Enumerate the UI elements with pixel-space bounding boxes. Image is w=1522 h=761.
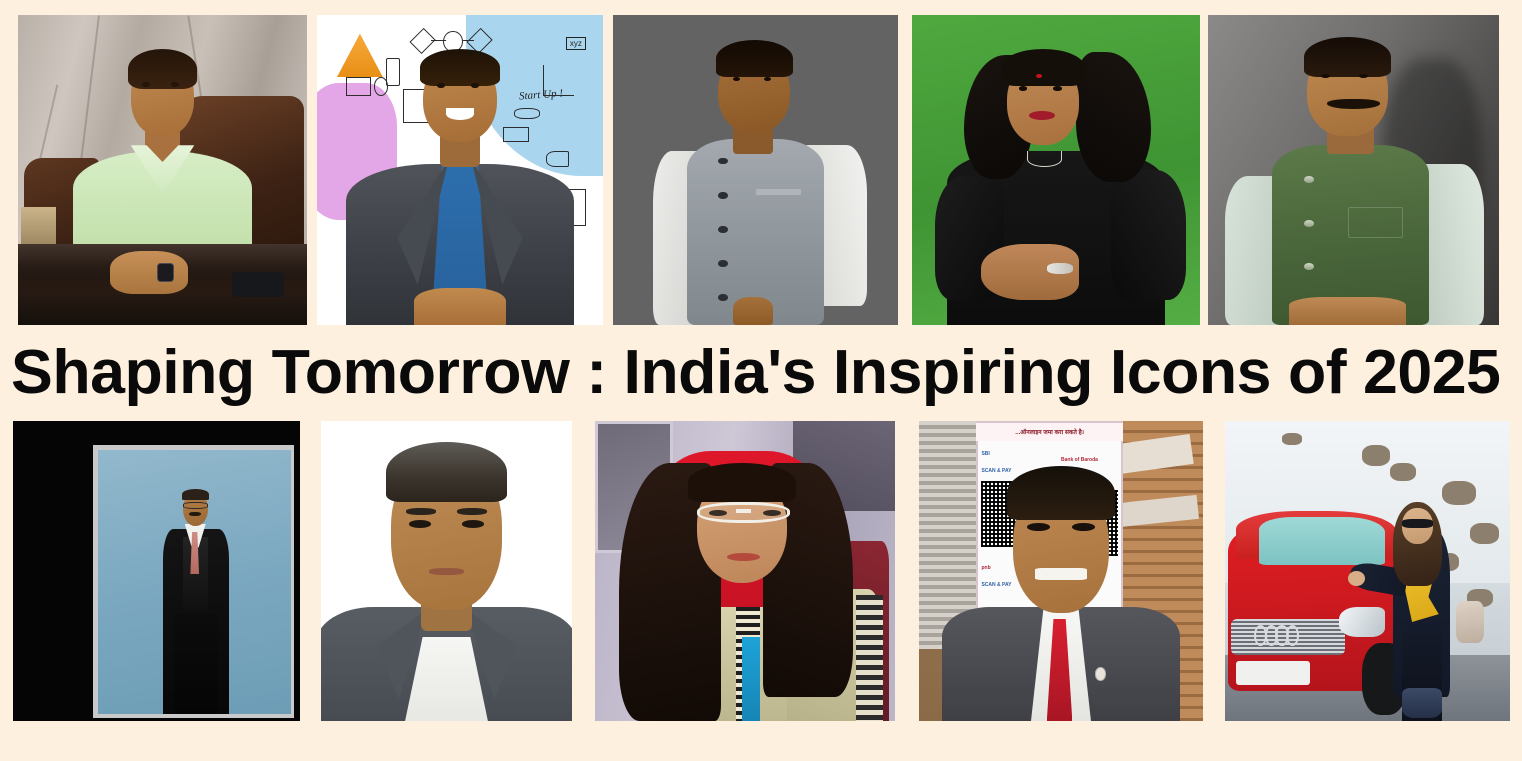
hair — [1304, 37, 1391, 77]
necklace — [1027, 151, 1062, 167]
doodle-xyz-icon: xyz — [566, 37, 586, 50]
waistcoat-pocket — [756, 189, 802, 195]
photo-tile-2[interactable]: xyz Start Up ! — [317, 15, 603, 325]
lips — [429, 568, 464, 575]
hair — [128, 49, 197, 89]
blue-scarf — [742, 637, 760, 721]
hair-top — [688, 463, 796, 502]
photo-5-image — [1208, 15, 1499, 325]
eye-right — [171, 82, 179, 87]
hair — [182, 489, 209, 500]
eyebrow-left — [406, 508, 436, 515]
rock — [1362, 445, 1391, 466]
photo-9-image: ...ऑनलाइन जमा करा सकते है। SBI SCAN & PA… — [919, 421, 1203, 721]
hands — [1289, 297, 1405, 325]
greying-hair — [386, 442, 506, 502]
photo-tile-9[interactable]: ...ऑनलाइन जमा करा सकते है। SBI SCAN & PA… — [919, 421, 1203, 721]
jacket-pocket — [1348, 207, 1403, 238]
waistcoat-button — [718, 294, 727, 301]
number-plate — [1236, 661, 1310, 685]
photo-tile-6[interactable] — [13, 421, 300, 721]
poster-title: Shaping Tomorrow : India's Inspiring Ico… — [0, 341, 1500, 404]
dupatta-border — [856, 595, 883, 721]
hair — [1007, 466, 1115, 520]
photo-2-image: xyz Start Up ! — [317, 15, 603, 325]
doodle-connector — [463, 40, 474, 41]
poster-canvas: xyz Start Up ! — [0, 0, 1522, 761]
wristwatch — [157, 263, 174, 282]
eye-left — [1027, 523, 1050, 531]
smile — [1035, 568, 1086, 580]
eye-left — [409, 520, 432, 528]
windshield — [1259, 517, 1384, 565]
scan-pay-label: SCAN & PAY — [981, 582, 1011, 588]
headline-band: Shaping Tomorrow : India's Inspiring Ico… — [0, 333, 1522, 411]
doodle-hand-icon — [546, 151, 569, 167]
photo-4-image — [912, 15, 1200, 325]
jacket-button — [1304, 263, 1314, 270]
lapel-pin — [1095, 667, 1106, 681]
hand-on-bonnet — [1348, 571, 1365, 586]
rock — [1390, 463, 1416, 481]
doodle-card-icon — [503, 127, 529, 143]
photo-tile-1[interactable] — [18, 15, 307, 325]
glasses-bridge — [736, 509, 751, 513]
eye-left — [1019, 86, 1028, 90]
photo-tile-8[interactable] — [595, 421, 895, 721]
rock — [1442, 481, 1476, 505]
eye-left — [142, 82, 150, 87]
bank-label-sbi: SBI — [981, 451, 989, 457]
eye-right — [1053, 86, 1062, 90]
eye-left — [437, 83, 444, 88]
photo-tile-10[interactable] — [1225, 421, 1510, 721]
photo-10-image — [1225, 421, 1510, 721]
photo-6-image — [13, 421, 300, 721]
photo-tile-7[interactable] — [321, 421, 572, 721]
eye-right — [1072, 523, 1095, 531]
rock — [1470, 523, 1499, 544]
eyebrow-right — [457, 508, 487, 515]
handbag — [1456, 601, 1485, 643]
doodle-chart-icon — [543, 65, 574, 96]
smartphone — [232, 272, 284, 297]
hair — [420, 49, 500, 86]
photo-tile-3[interactable] — [613, 15, 898, 325]
bank-label-bob: Bank of Baroda — [1061, 457, 1098, 463]
bracelet — [1047, 263, 1073, 274]
waistcoat-button — [718, 192, 727, 199]
eye-right — [471, 83, 478, 88]
lips — [727, 553, 760, 561]
framed-portrait — [98, 450, 291, 715]
eyeglasses — [183, 502, 208, 508]
photo-tile-5[interactable] — [1208, 15, 1499, 325]
hair — [716, 40, 793, 77]
doodle-lightbulb-icon — [374, 77, 388, 96]
sunglasses — [1402, 519, 1433, 528]
doodle-phone-icon — [386, 58, 400, 86]
snow-boots — [1402, 688, 1442, 718]
dress-sleeve-right — [1111, 170, 1186, 300]
bank-label-pnb: pnb — [981, 565, 990, 571]
hair-top — [1001, 49, 1085, 86]
doodle-envelope-icon — [346, 77, 372, 96]
clasped-hands — [110, 251, 188, 294]
bindi — [1036, 74, 1042, 78]
banner-entry-sbi: SBI — [981, 445, 1043, 463]
rock — [1282, 433, 1302, 445]
jacket-button — [1304, 220, 1314, 227]
photo-tile-4[interactable] — [912, 15, 1200, 325]
photo-7-image — [321, 421, 572, 721]
trousers — [175, 614, 217, 715]
waistcoat-button — [718, 226, 727, 233]
waistcoat-button — [718, 158, 727, 165]
photo-1-image — [18, 15, 307, 325]
scan-pay-label: SCAN & PAY — [981, 468, 1011, 474]
audi-ring — [1286, 625, 1299, 646]
photo-8-image — [595, 421, 895, 721]
folded-hands — [414, 288, 506, 325]
doodle-connector — [431, 40, 445, 41]
eye-right — [462, 520, 485, 528]
headlight — [1339, 607, 1385, 637]
hand — [733, 297, 773, 325]
banner-headline: ...ऑनलाइन जमा करा सकते है। — [976, 423, 1124, 441]
moustache — [189, 512, 201, 516]
waistcoat-button — [718, 260, 727, 267]
audi-rings-logo — [1256, 625, 1307, 646]
photo-3-image — [613, 15, 898, 325]
doodle-glasses-icon — [514, 108, 540, 119]
